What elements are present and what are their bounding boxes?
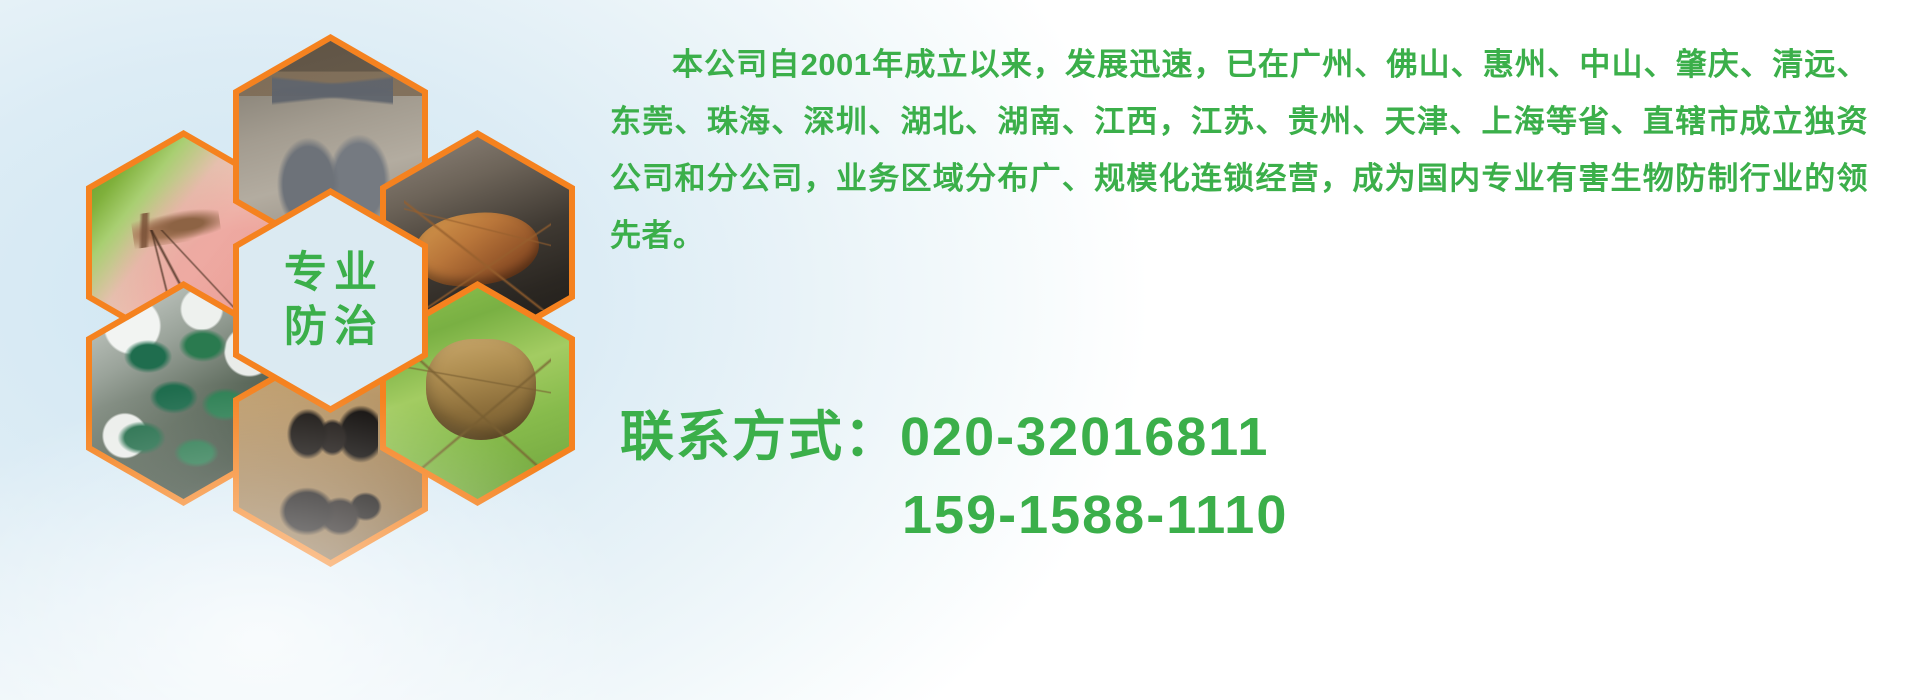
contact-label: 联系方式： [620,407,900,467]
phone-secondary[interactable]: 159-1588-1110 [902,485,1288,545]
slogan-line-1: 专业 [277,249,384,299]
banner-content: 本公司自2001年成立以来，发展迅速，已在广州、佛山、惠州、中山、肇庆、清远、东… [610,0,1900,700]
promo-banner: 专业 防治 本公司自2001年成立以来，发展迅速，已在广州、佛山、惠州、中山、肇… [0,0,1920,700]
hex-inner-slogan: 专业 防治 [239,195,422,406]
company-intro-paragraph: 本公司自2001年成立以来，发展迅速，已在广州、佛山、惠州、中山、肇庆、清远、东… [610,36,1868,264]
slogan-line-2: 防治 [277,303,384,353]
phone-primary[interactable]: 020-32016811 [900,407,1269,467]
honeycomb-cluster: 专业 防治 [86,6,586,586]
contact-line-primary: 联系方式：020-32016811 [620,398,1620,476]
contact-line-secondary: 159-1588-1110 [620,476,1620,554]
contact-block: 联系方式：020-32016811 159-1588-1110 [620,398,1620,554]
